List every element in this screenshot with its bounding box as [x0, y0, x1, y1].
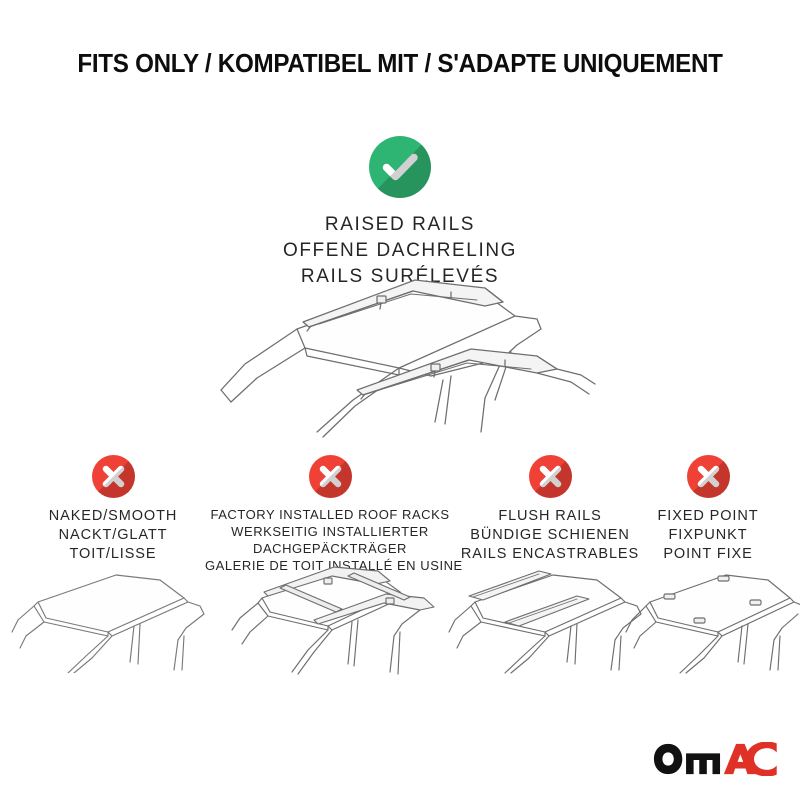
- omac-logo: [653, 742, 778, 776]
- badge-long-shadow: [92, 455, 135, 498]
- x-circle-icon: [529, 455, 572, 498]
- car-roof-factory-rack-illustration: [218, 548, 443, 676]
- label-line-de: BÜNDIGE SCHIENEN: [455, 526, 645, 545]
- badge-long-shadow: [687, 455, 730, 498]
- x-circle-icon: [687, 455, 730, 498]
- car-roof-fixed-point-illustration: [622, 556, 800, 674]
- label-line-de: FIXPUNKT: [625, 526, 791, 545]
- label-line-en: FLUSH RAILS: [455, 507, 645, 526]
- badge-long-shadow: [309, 455, 352, 498]
- badge-long-shadow: [529, 455, 572, 498]
- incompatible-flush-rails-item: FLUSH RAILS BÜNDIGE SCHIENEN RAILS ENCAS…: [455, 455, 645, 564]
- x-circle-icon: [92, 455, 135, 498]
- logo-letter-o: [654, 744, 682, 774]
- car-roof-naked-smooth-illustration: [8, 558, 208, 673]
- logo-letter-m: [686, 753, 720, 774]
- label-line-en: FIXED POINT: [625, 507, 791, 526]
- label-line-en: FACTORY INSTALLED ROOF RACKS: [205, 507, 455, 524]
- page-title: FITS ONLY / KOMPATIBEL MIT / S'ADAPTE UN…: [28, 48, 772, 79]
- incompatible-naked-label: NAKED/SMOOTH NACKT/GLATT TOIT/LISSE: [13, 507, 213, 564]
- label-line-en: NAKED/SMOOTH: [13, 507, 213, 526]
- car-roof-flush-rails-illustration: [443, 556, 648, 674]
- label-line-de-1: WERKSEITIG INSTALLIERTER: [205, 524, 455, 541]
- label-line-de: OFFENE DACHRELING: [200, 238, 600, 264]
- incompatible-fixed-point-item: FIXED POINT FIXPUNKT POINT FIXE: [625, 455, 791, 564]
- car-roof-raised-rails-illustration: [185, 272, 625, 447]
- label-line-de: NACKT/GLATT: [13, 526, 213, 545]
- label-line-en: RAISED RAILS: [200, 212, 600, 238]
- compatible-raised-rails-item: RAISED RAILS OFFENE DACHRELING RAILS SUR…: [200, 136, 600, 290]
- badge-long-shadow: [369, 136, 431, 198]
- check-circle-icon: [369, 136, 431, 198]
- incompatible-naked-smooth-item: NAKED/SMOOTH NACKT/GLATT TOIT/LISSE: [13, 455, 213, 564]
- x-circle-icon: [309, 455, 352, 498]
- header: FITS ONLY / KOMPATIBEL MIT / S'ADAPTE UN…: [0, 48, 800, 79]
